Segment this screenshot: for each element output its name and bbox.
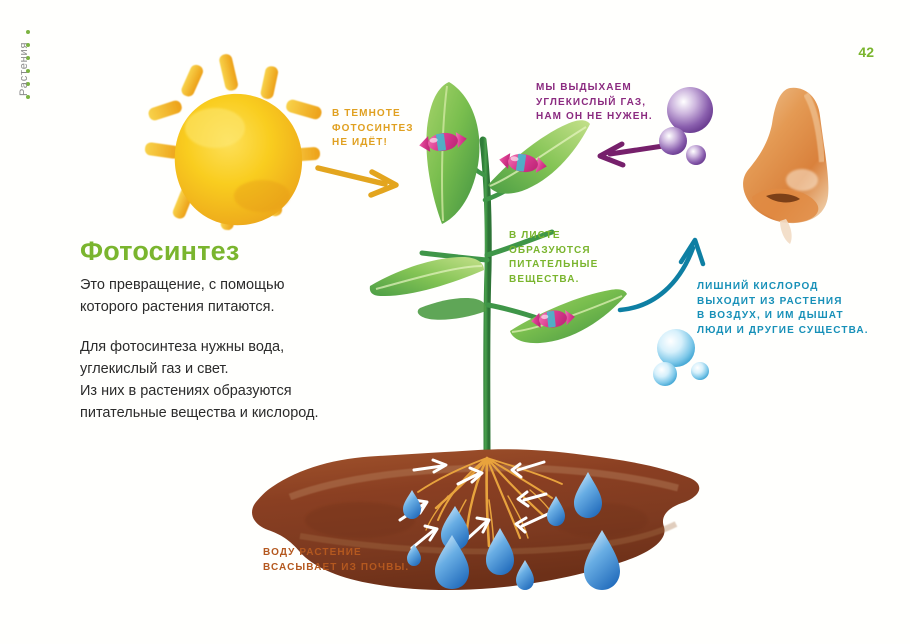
page-number: 42 bbox=[858, 44, 874, 60]
sun-rays bbox=[144, 53, 323, 231]
page-title: Фотосинтез bbox=[80, 236, 239, 267]
sun-body bbox=[175, 94, 302, 225]
body-paragraph-1: Это превращение, с помощью которого раст… bbox=[80, 274, 370, 318]
oxygen-arrow bbox=[620, 240, 703, 310]
nutrient-candy bbox=[418, 130, 468, 155]
sunlight-arrow bbox=[318, 168, 396, 195]
human-nose bbox=[743, 88, 828, 244]
carbon-dioxide-bubbles bbox=[659, 87, 713, 165]
callout-darkness: В ТЕМНОТЕ ФОТОСИНТЕЗ НЕ ИДЁТ! bbox=[332, 107, 414, 151]
nutrient-candy bbox=[530, 308, 576, 330]
leaf bbox=[510, 289, 627, 343]
callout-oxygen: ЛИШНИЙ КИСЛОРОД ВЫХОДИТ ИЗ РАСТЕНИЯ В ВО… bbox=[697, 280, 869, 338]
water-droplets bbox=[403, 472, 620, 590]
body-paragraph-2: Для фотосинтеза нужны вода, углекислый г… bbox=[80, 336, 370, 424]
co2-arrow bbox=[600, 144, 663, 165]
page-root: Растения 42 bbox=[0, 0, 910, 644]
callout-carbon-dioxide: МЫ ВЫДЫХАЕМ УГЛЕКИСЛЫЙ ГАЗ, НАМ ОН НЕ НУ… bbox=[536, 81, 653, 125]
sun-illustration bbox=[144, 53, 323, 231]
rail-dot bbox=[26, 30, 30, 34]
leaf bbox=[488, 120, 590, 193]
side-rail: Растения bbox=[0, 0, 46, 644]
nutrient-candy bbox=[498, 151, 548, 176]
leaf bbox=[426, 82, 479, 224]
leaf bbox=[418, 298, 486, 320]
callout-water: ВОДУ РАСТЕНИЕ ВСАСЫВАЕТ ИЗ ПОЧВЫ. bbox=[263, 546, 409, 575]
absorption-arrows bbox=[400, 460, 548, 548]
roots bbox=[418, 458, 562, 556]
chapter-label: Растения bbox=[18, 42, 30, 96]
leaf bbox=[370, 257, 484, 296]
callout-leaf-nutrients: В ЛИСТЕ ОБРАЗУЮТСЯ ПИТАТЕЛЬНЫЕ ВЕЩЕСТВА. bbox=[509, 229, 598, 287]
plant-stem bbox=[483, 140, 488, 455]
